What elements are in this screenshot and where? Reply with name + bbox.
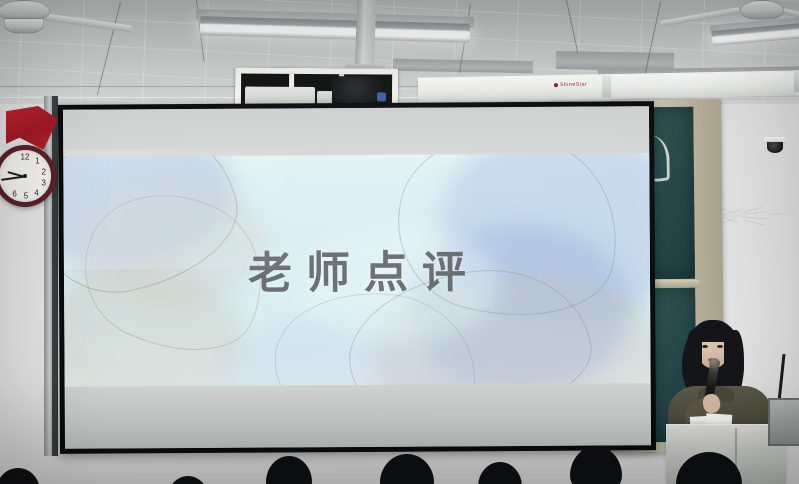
speaker-eye [717,345,723,348]
clock-numeral: 5 [24,192,28,201]
clock-numeral: 6 [12,189,16,198]
projector-indicator [377,92,386,101]
screen-unlit-bottom [65,383,651,449]
door-jamb-shadow [52,96,58,456]
speaker-eye [702,345,708,348]
clock-numeral: 3 [41,179,45,188]
ceiling-fan-left [0,0,140,46]
clock-numeral: 4 [34,188,38,197]
clock-numeral: 2 [41,167,45,176]
fan-motor [740,0,784,20]
ceiling-duct [393,59,533,73]
screen-bracket [794,70,799,92]
screen-unlit-top [63,106,649,157]
camera-dome [767,142,783,153]
podium-side-panel [768,398,799,446]
screen-brand-logo: ShineStar [554,82,587,89]
wall-tape-marks [714,200,784,230]
clock-numeral: 12 [21,152,30,161]
clock-center-pin [23,174,27,178]
projection-screen-surface: 老师点评 [63,106,651,449]
presentation-slide: 老师点评 [63,153,650,387]
classroom-photo: ShineStar [0,0,799,484]
projection-screen: 老师点评 [58,101,656,454]
security-camera-icon [764,137,786,152]
projector-mount-pole [355,0,377,72]
clock-numeral: 1 [35,157,39,166]
clock-minute-hand [1,176,25,181]
ceiling-fan-right [700,0,799,44]
screen-bracket [602,76,611,98]
slide-title: 老师点评 [64,235,650,303]
fan-motor-lower [4,18,44,34]
